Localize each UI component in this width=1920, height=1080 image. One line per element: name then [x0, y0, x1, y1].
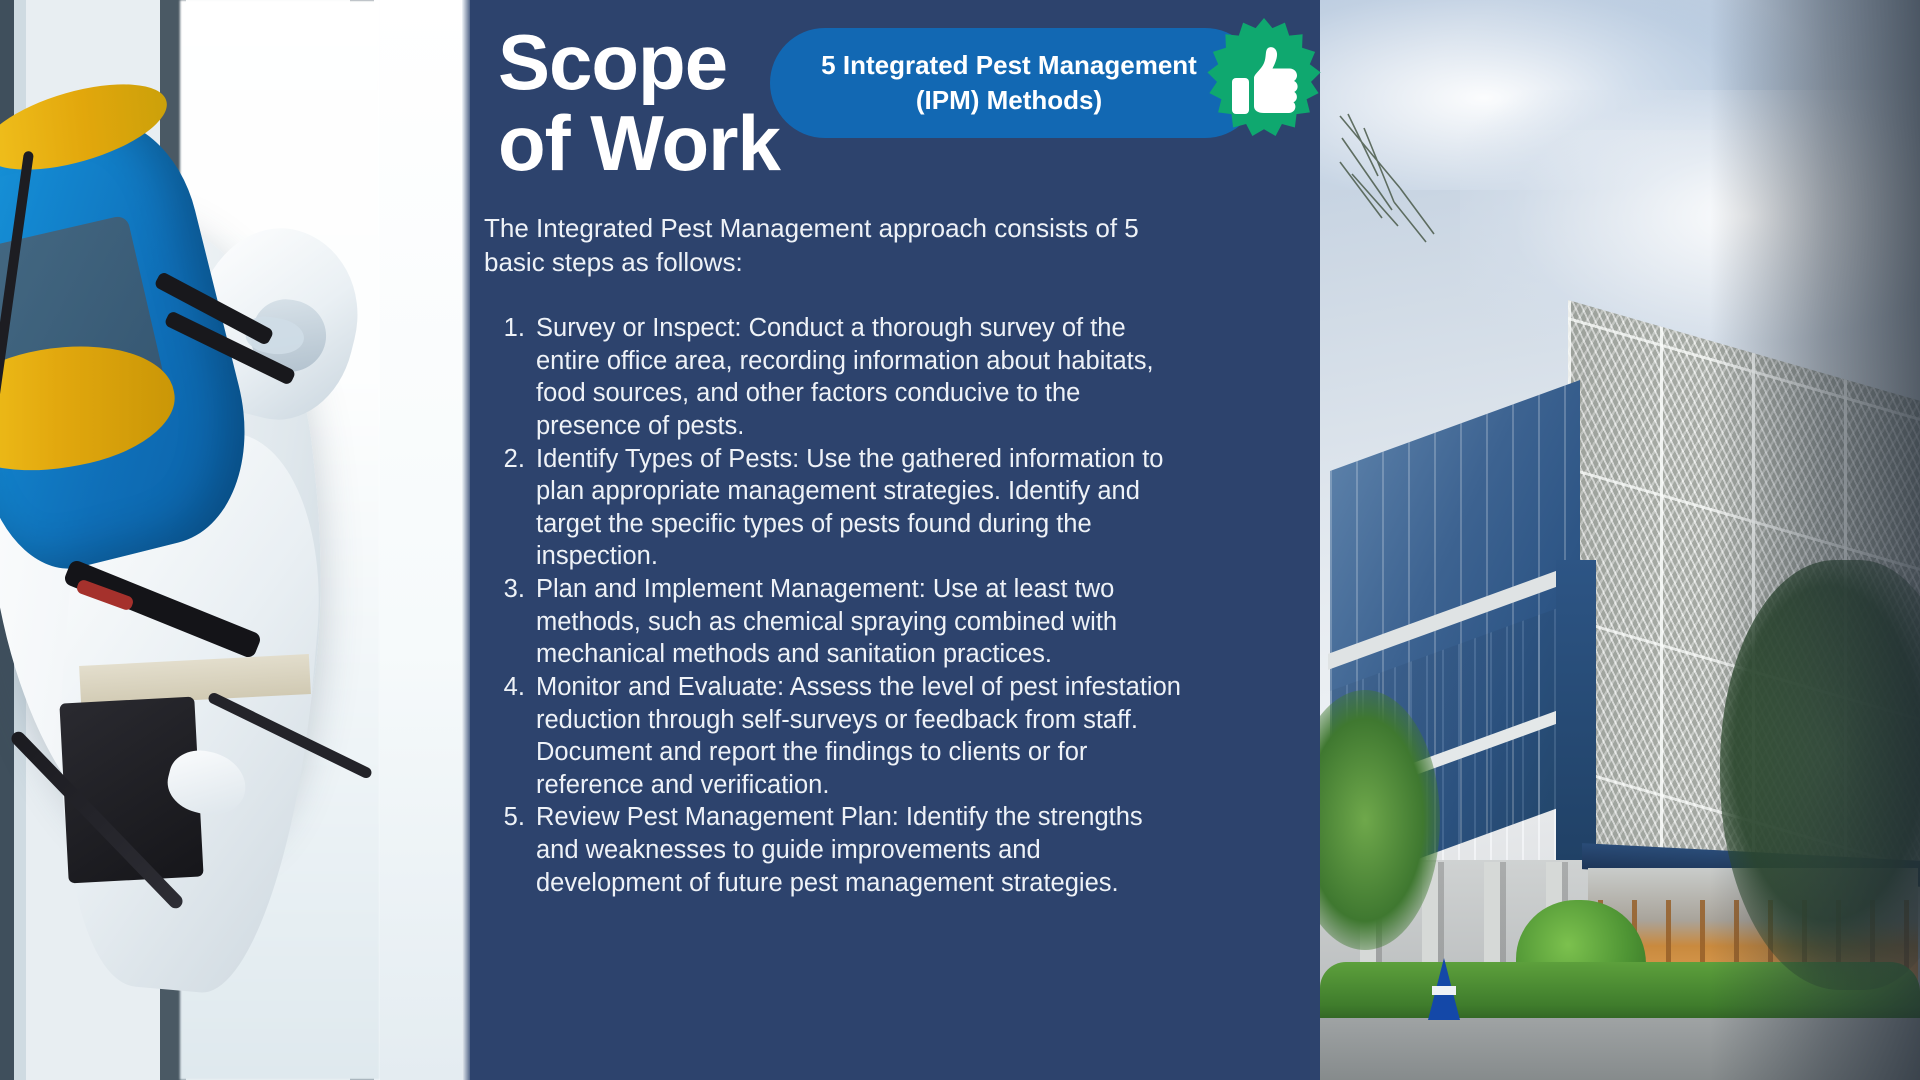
- tree-branch-icon: [1338, 110, 1468, 250]
- list-item: Monitor and Evaluate: Assess the level o…: [532, 671, 1190, 802]
- page-title-line-1: Scope: [498, 18, 727, 106]
- list-item: Review Pest Management Plan: Identify th…: [532, 801, 1190, 899]
- ipm-methods-badge-label: 5 Integrated Pest Management (IPM) Metho…: [821, 48, 1197, 118]
- thumbs-up-icon: [1202, 16, 1326, 140]
- intro-paragraph: The Integrated Pest Management approach …: [484, 212, 1184, 280]
- ipm-methods-badge[interactable]: 5 Integrated Pest Management (IPM) Metho…: [770, 28, 1260, 138]
- ipm-steps-section: Survey or Inspect: Conduct a thorough su…: [484, 312, 1190, 899]
- right-edge-shadow-overlay: [1710, 0, 1920, 1080]
- badge-line-1: 5 Integrated Pest Management: [821, 50, 1197, 80]
- traffic-cone-stripe: [1432, 986, 1456, 995]
- list-item: Plan and Implement Management: Use at le…: [532, 573, 1190, 671]
- thumbs-up-badge: [1202, 16, 1326, 140]
- list-item: Identify Types of Pests: Use the gathere…: [532, 443, 1190, 574]
- window-light-glow-secondary: [380, 0, 470, 1080]
- list-item: Survey or Inspect: Conduct a thorough su…: [532, 312, 1190, 443]
- badge-line-2: (IPM) Methods): [916, 85, 1102, 115]
- left-photo-pest-control-technician: [0, 0, 470, 1080]
- ipm-steps-list: Survey or Inspect: Conduct a thorough su…: [484, 312, 1190, 899]
- slide-canvas: Scope of Work 5 Integrated Pest Manageme…: [0, 0, 1920, 1080]
- right-photo-commercial-building: [1320, 0, 1920, 1080]
- building-corner-blue-fin: [1556, 560, 1596, 890]
- content-panel: Scope of Work 5 Integrated Pest Manageme…: [470, 0, 1320, 1080]
